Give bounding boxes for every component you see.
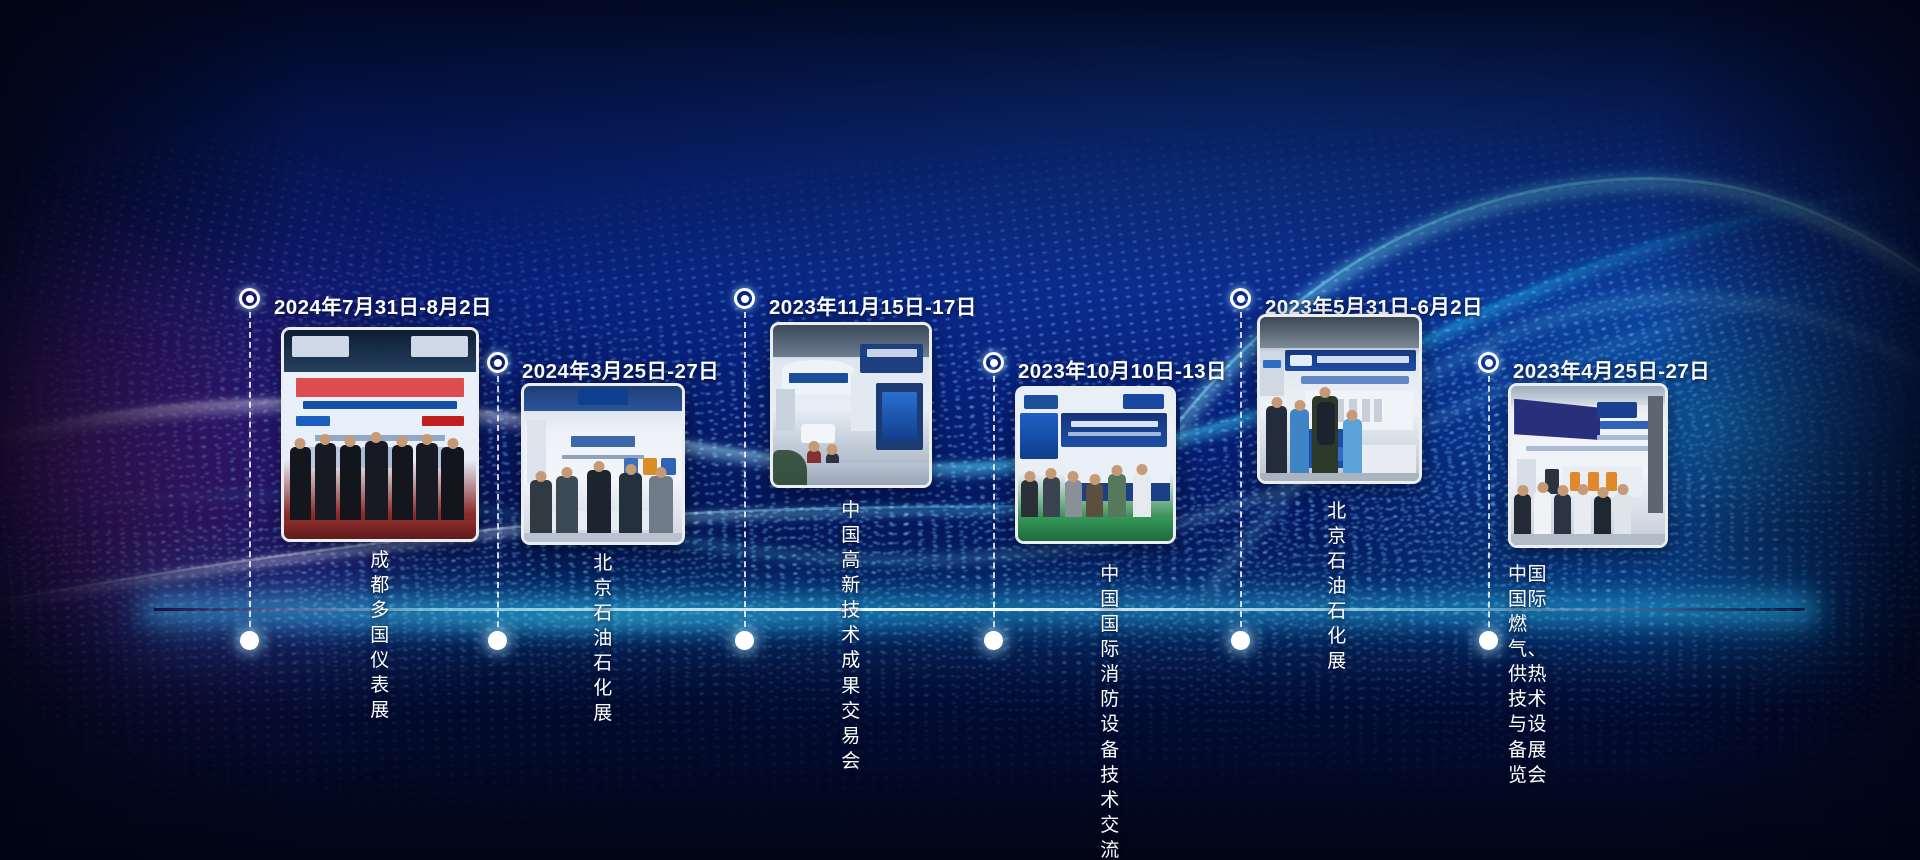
- event-connector-line-3: [744, 312, 746, 637]
- event-date-2: 2024年3月25日-27日: [522, 354, 719, 384]
- event-photo-3[interactable]: [770, 322, 932, 488]
- event-photo-5[interactable]: [1257, 314, 1422, 484]
- timeline: 2024年7月31日-8月2日: [0, 0, 1920, 860]
- event-date-6: 2023年4月25日-27日: [1513, 354, 1710, 384]
- event-caption-6: 中国国际燃气、供热 技术与设备展览会: [1508, 562, 1547, 788]
- event-caption-5: 北京石油石化展: [1327, 499, 1347, 675]
- event-photo-4[interactable]: [1015, 386, 1176, 544]
- event-connector-line-5: [1240, 312, 1242, 637]
- event-caption-4: 中国国际消防设备 技术交流展览会: [1100, 562, 1120, 860]
- event-endpoint-dot-1: [240, 631, 259, 650]
- event-connector-line-1: [249, 312, 251, 637]
- event-date-3: 2023年11月15日-17日: [769, 290, 977, 320]
- event-marker-icon-3: [734, 288, 755, 309]
- event-caption-2: 北京石油石化展: [593, 551, 613, 727]
- event-endpoint-dot-5: [1231, 631, 1250, 650]
- event-marker-icon-1: [239, 288, 260, 309]
- event-marker-icon-4: [983, 352, 1004, 373]
- event-endpoint-dot-2: [488, 631, 507, 650]
- event-endpoint-dot-6: [1479, 631, 1498, 650]
- event-connector-line-4: [993, 376, 995, 637]
- event-caption-1: 成都多国仪表展: [370, 548, 390, 724]
- event-connector-line-2: [497, 376, 499, 637]
- event-photo-2[interactable]: [521, 383, 685, 545]
- event-caption-3: 中国高新技术 成果交易会: [841, 498, 861, 774]
- banner-stage: 2024年7月31日-8月2日: [0, 0, 1920, 860]
- event-date-4: 2023年10月10日-13日: [1018, 354, 1227, 384]
- event-photo-1[interactable]: [281, 327, 479, 542]
- event-marker-icon-2: [487, 352, 508, 373]
- event-marker-icon-5: [1230, 288, 1251, 309]
- event-date-1: 2024年7月31日-8月2日: [274, 290, 492, 320]
- event-connector-line-6: [1488, 376, 1490, 637]
- event-endpoint-dot-4: [984, 631, 1003, 650]
- event-photo-6[interactable]: [1508, 383, 1668, 548]
- event-marker-icon-6: [1478, 352, 1499, 373]
- event-endpoint-dot-3: [735, 631, 754, 650]
